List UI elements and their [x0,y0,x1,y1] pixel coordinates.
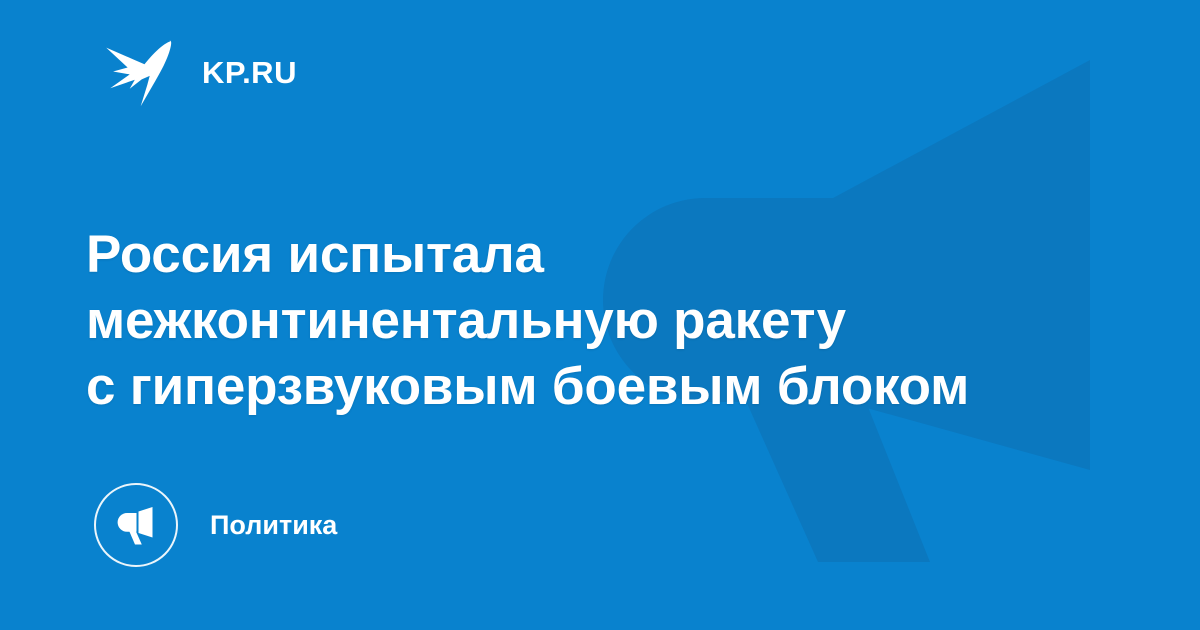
headline-line-1: Россия испытала [86,222,1116,288]
brand-wordmark: KP.RU [202,57,297,88]
headline-line-3: с гиперзвуковым боевым блоком [86,354,1116,420]
rubric-label: Политика [210,512,337,539]
social-share-card: KP.RU Россия испытала межконтинентальную… [0,0,1200,630]
headline-line-2: межконтинентальную ракету [86,288,1116,354]
brand-logo[interactable]: KP.RU [104,38,297,106]
rubric-tag[interactable]: Политика [94,483,337,567]
swallow-bird-icon [104,38,180,106]
megaphone-icon [114,504,158,546]
rubric-icon-badge [94,483,178,567]
page-title: Россия испытала межконтинентальную ракет… [86,222,1116,420]
